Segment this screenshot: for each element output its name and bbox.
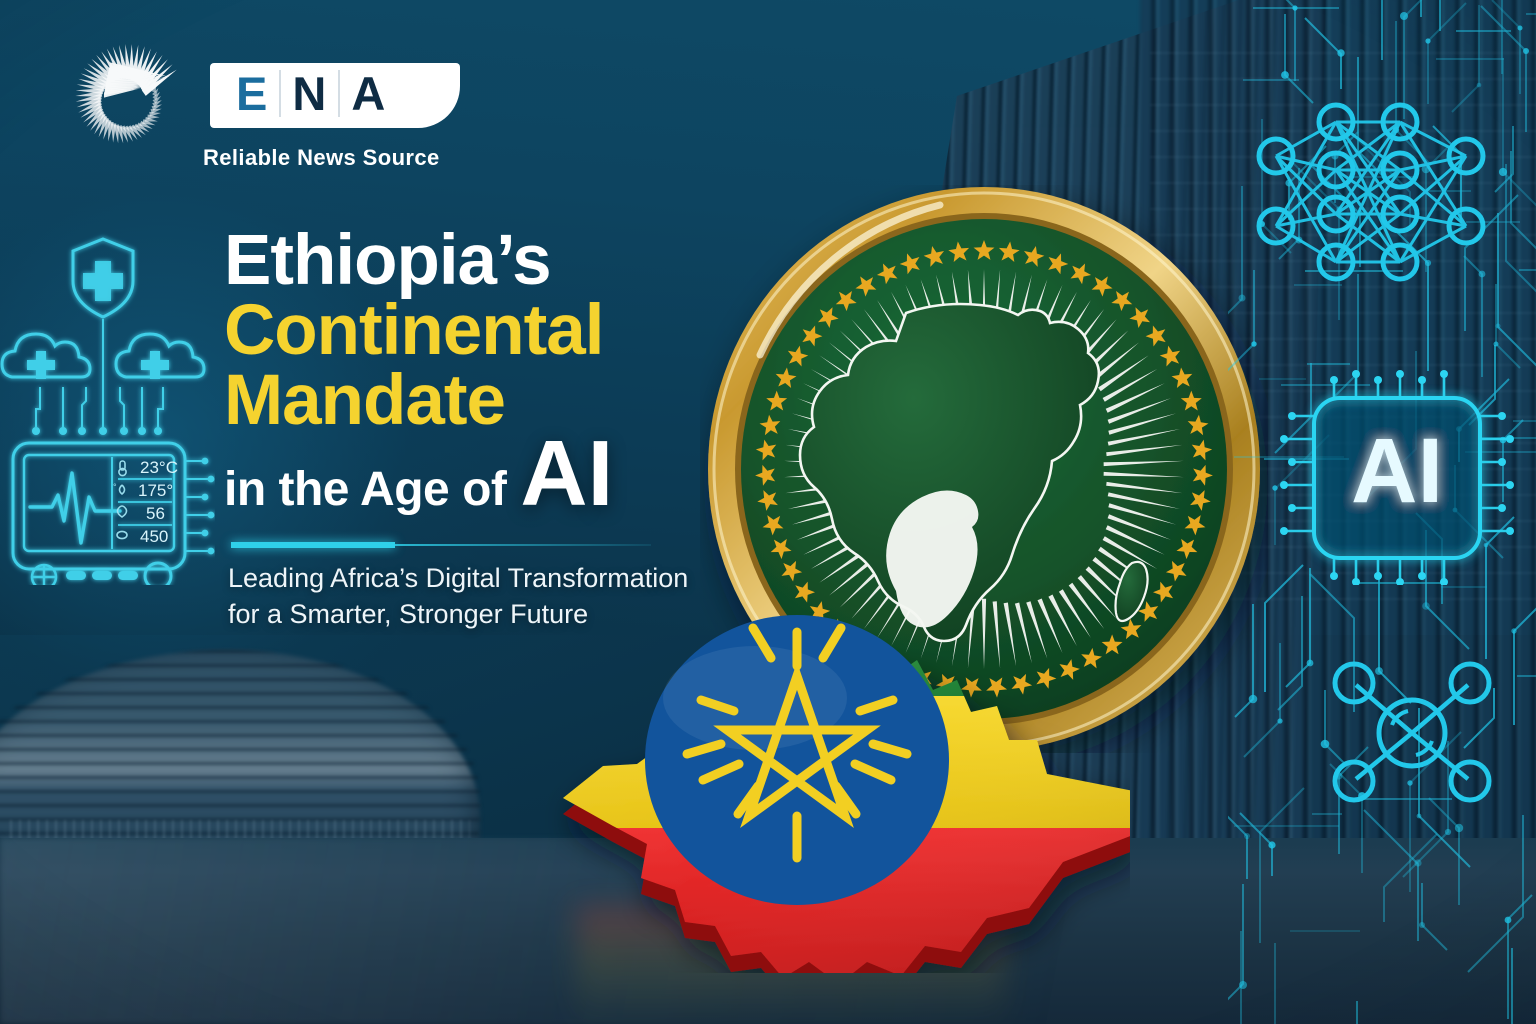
headline-line-3: Mandate: [224, 368, 724, 434]
ethiopia-flag-map: [505, 548, 1130, 973]
cloud-health-left-icon: [2, 334, 90, 379]
droplet-icon: °: [113, 482, 125, 494]
poster-root: 23°C 175° 56 450 ° E N A Reliable: [0, 0, 1536, 1024]
hud-readout-volume: 450: [140, 527, 168, 546]
molecule-node-icon: [1326, 655, 1498, 810]
accent-divider-thin: [391, 544, 651, 546]
headline-block: Ethiopia’s Continental Mandate in the Ag…: [224, 228, 724, 517]
cloud-health-right-icon: [116, 334, 204, 379]
left-tech-hud: 23°C 175° 56 450 °: [0, 225, 215, 585]
accent-divider: [231, 541, 651, 548]
hud-readout-temperature: 23°C: [140, 458, 178, 477]
headline-line-2: Continental: [224, 298, 724, 364]
headline-line-4: in the Age of: [224, 462, 506, 517]
ena-tagline: Reliable News Source: [203, 145, 503, 171]
neural-network-icon: [1252, 92, 1510, 288]
ena-letter-e: E: [210, 70, 279, 117]
headline-line-1: Ethiopia’s: [224, 228, 724, 294]
thermometer-icon: [119, 461, 126, 476]
ena-logo[interactable]: E N A Reliable News Source: [58, 33, 458, 183]
hud-readout-pressure: 175°: [138, 481, 173, 500]
ena-wordmark: E N A: [210, 63, 460, 128]
accent-divider-bright: [231, 542, 395, 548]
ai-chip-icon: AI: [1276, 370, 1516, 585]
headline-line-4-row: in the Age of AI: [224, 436, 724, 517]
hud-readout-heart-rate: 56: [146, 504, 165, 523]
ena-swirl-mark: [58, 33, 193, 168]
hud-circuit-dots: [32, 427, 162, 435]
ena-letter-a: A: [340, 70, 397, 117]
shield-health-icon: [73, 239, 133, 317]
ai-chip-label: AI: [1351, 420, 1443, 522]
hud-right-bus: [186, 461, 208, 551]
ena-letter-n: N: [279, 70, 340, 117]
headline-ai-accent: AI: [520, 436, 613, 510]
svg-text:°: °: [113, 482, 117, 492]
lungs-icon: [117, 531, 127, 538]
